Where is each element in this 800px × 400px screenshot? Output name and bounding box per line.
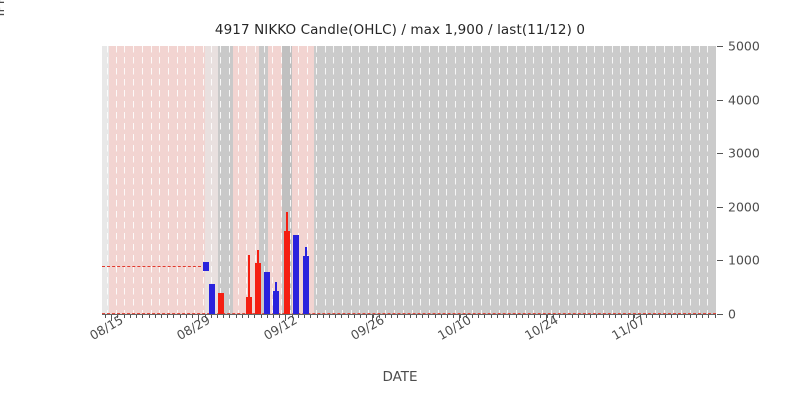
x-tick-minor [304, 315, 305, 318]
gridline [325, 46, 326, 314]
gridline [194, 46, 195, 314]
gridline [333, 46, 334, 314]
gridline [507, 46, 508, 314]
gridline [377, 46, 378, 314]
gridline [168, 46, 169, 314]
x-tick-minor [236, 315, 237, 318]
gridline [481, 46, 482, 314]
x-tick-minor [715, 315, 716, 318]
gridline [690, 46, 691, 314]
gridline [533, 46, 534, 314]
gridline [151, 46, 152, 314]
x-tick-minor [248, 315, 249, 318]
x-tick-minor [404, 315, 405, 318]
gridline [107, 46, 108, 314]
x-tick-minor [646, 315, 647, 318]
gridline [238, 46, 239, 314]
gridline [559, 46, 560, 314]
y-tick-mark [717, 314, 723, 315]
gridline [516, 46, 517, 314]
x-tick-minor [659, 315, 660, 318]
x-tick-minor [503, 315, 504, 318]
gridline [455, 46, 456, 314]
gridline [159, 46, 160, 314]
x-tick-minor [435, 315, 436, 318]
x-tick-minor [397, 315, 398, 318]
gridline [124, 46, 125, 314]
x-tick-minor [335, 315, 336, 318]
gridline [655, 46, 656, 314]
candle-body [246, 297, 252, 314]
gridline [142, 46, 143, 314]
x-tick-minor [609, 315, 610, 318]
x-tick-minor [416, 315, 417, 318]
x-tick-minor [509, 315, 510, 318]
x-tick-minor [528, 315, 529, 318]
x-tick-minor [572, 315, 573, 318]
x-tick-minor [615, 315, 616, 318]
x-tick-minor [254, 315, 255, 318]
y-tick-label: 4000 [728, 92, 760, 107]
candle-body [209, 284, 215, 314]
candle-body [303, 256, 309, 314]
gridline [185, 46, 186, 314]
x-axis-label: DATE [0, 369, 800, 385]
x-tick-minor [267, 315, 268, 318]
x-tick-minor [684, 315, 685, 318]
x-tick-minor [690, 315, 691, 318]
x-tick-minor [229, 315, 230, 318]
x-tick-minor [317, 315, 318, 318]
gridline [281, 46, 282, 314]
gridline [342, 46, 343, 314]
gridline [438, 46, 439, 314]
gridline [116, 46, 117, 314]
x-tick-minor [484, 315, 485, 318]
x-tick-minor [142, 315, 143, 318]
x-tick-minor [596, 315, 597, 318]
x-tick-minor [665, 315, 666, 318]
plot-area [102, 46, 716, 314]
x-tick-minor [348, 315, 349, 318]
background-band [109, 46, 205, 314]
x-tick-minor [167, 315, 168, 318]
gridline [699, 46, 700, 314]
candle-body [284, 231, 290, 314]
y-tick-mark [717, 207, 723, 208]
gridline [272, 46, 273, 314]
candle-body [273, 291, 279, 314]
gridline [620, 46, 621, 314]
reference-line-segment [102, 266, 206, 267]
x-tick-minor [410, 315, 411, 318]
x-tick-minor [223, 315, 224, 318]
candle-body [264, 272, 270, 314]
x-tick-minor [708, 315, 709, 318]
gridline [394, 46, 395, 314]
y-axis-label: IPPAN ZAIKO (volume) [0, 0, 8, 62]
x-tick-minor [341, 315, 342, 318]
gridline [316, 46, 317, 314]
x-tick-minor [516, 315, 517, 318]
x-tick-minor [584, 315, 585, 318]
x-tick-minor [472, 315, 473, 318]
x-tick-minor [329, 315, 330, 318]
x-tick-minor [702, 315, 703, 318]
gridline [542, 46, 543, 314]
x-tick-minor [621, 315, 622, 318]
candle-body [255, 263, 261, 314]
gridline [464, 46, 465, 314]
x-tick-minor [310, 315, 311, 318]
x-tick-minor [590, 315, 591, 318]
y-tick-label: 0 [728, 307, 736, 322]
gridline [629, 46, 630, 314]
x-tick-minor [360, 315, 361, 318]
x-tick-minor [217, 315, 218, 318]
gridline [412, 46, 413, 314]
gridline [472, 46, 473, 314]
gridline [551, 46, 552, 314]
gridline [220, 46, 221, 314]
gridline [568, 46, 569, 314]
gridline [359, 46, 360, 314]
chart-title: 4917 NIKKO Candle(OHLC) / max 1,900 / la… [0, 22, 800, 38]
x-tick-minor [180, 315, 181, 318]
x-tick-minor [298, 315, 299, 318]
gridline [385, 46, 386, 314]
gridline [577, 46, 578, 314]
gridline [246, 46, 247, 314]
background-band [233, 46, 246, 314]
x-tick-minor [497, 315, 498, 318]
gridline [490, 46, 491, 314]
x-tick-minor [565, 315, 566, 318]
gridline [586, 46, 587, 314]
y-tick-label: 5000 [728, 39, 760, 54]
gridline [664, 46, 665, 314]
x-tick-minor [273, 315, 274, 318]
x-tick-label: 08/15 [87, 312, 126, 343]
gridline [446, 46, 447, 314]
candle-body [218, 293, 224, 314]
x-tick-minor [603, 315, 604, 318]
y-tick-mark [717, 46, 723, 47]
x-tick-minor [478, 315, 479, 318]
gridline [499, 46, 500, 314]
x-tick-minor [559, 315, 560, 318]
x-tick-minor [130, 315, 131, 318]
x-tick-minor [354, 315, 355, 318]
candle-body [293, 235, 299, 314]
x-tick-minor [161, 315, 162, 318]
x-tick-minor [671, 315, 672, 318]
start-marker-dot [203, 262, 209, 271]
x-axis-line [102, 314, 716, 315]
gridline [420, 46, 421, 314]
x-tick-minor [428, 315, 429, 318]
x-tick-minor [422, 315, 423, 318]
x-tick-minor [522, 315, 523, 318]
y-tick-mark [717, 260, 723, 261]
y-tick-label: 1000 [728, 253, 760, 268]
y-tick-label: 2000 [728, 199, 760, 214]
x-tick-minor [696, 315, 697, 318]
gridline [211, 46, 212, 314]
gridline [133, 46, 134, 314]
x-tick-minor [447, 315, 448, 318]
gridline [673, 46, 674, 314]
x-tick-minor [155, 315, 156, 318]
gridline [612, 46, 613, 314]
y-tick-mark [717, 100, 723, 101]
x-tick-minor [441, 315, 442, 318]
x-tick-minor [261, 315, 262, 318]
gridline [707, 46, 708, 314]
x-tick-minor [677, 315, 678, 318]
x-tick-minor [186, 315, 187, 318]
gridline [429, 46, 430, 314]
background-band [268, 46, 282, 314]
x-tick-minor [124, 315, 125, 318]
x-tick-minor [136, 315, 137, 318]
y-tick-mark [717, 153, 723, 154]
x-tick-minor [491, 315, 492, 318]
x-tick-minor [149, 315, 150, 318]
gridline [203, 46, 204, 314]
gridline [638, 46, 639, 314]
x-tick-minor [391, 315, 392, 318]
gridline [525, 46, 526, 314]
x-tick-minor [578, 315, 579, 318]
x-tick-minor [173, 315, 174, 318]
x-tick-minor [652, 315, 653, 318]
x-tick-minor [323, 315, 324, 318]
gridline [229, 46, 230, 314]
y-tick-label: 3000 [728, 146, 760, 161]
gridline [646, 46, 647, 314]
gridline [368, 46, 369, 314]
x-tick-minor [211, 315, 212, 318]
gridline [177, 46, 178, 314]
gridline [351, 46, 352, 314]
chart-container: 4917 NIKKO Candle(OHLC) / max 1,900 / la… [0, 0, 800, 400]
x-tick-minor [242, 315, 243, 318]
gridline [603, 46, 604, 314]
gridline [681, 46, 682, 314]
gridline [594, 46, 595, 314]
x-tick-minor [534, 315, 535, 318]
gridline [403, 46, 404, 314]
x-tick-minor [385, 315, 386, 318]
